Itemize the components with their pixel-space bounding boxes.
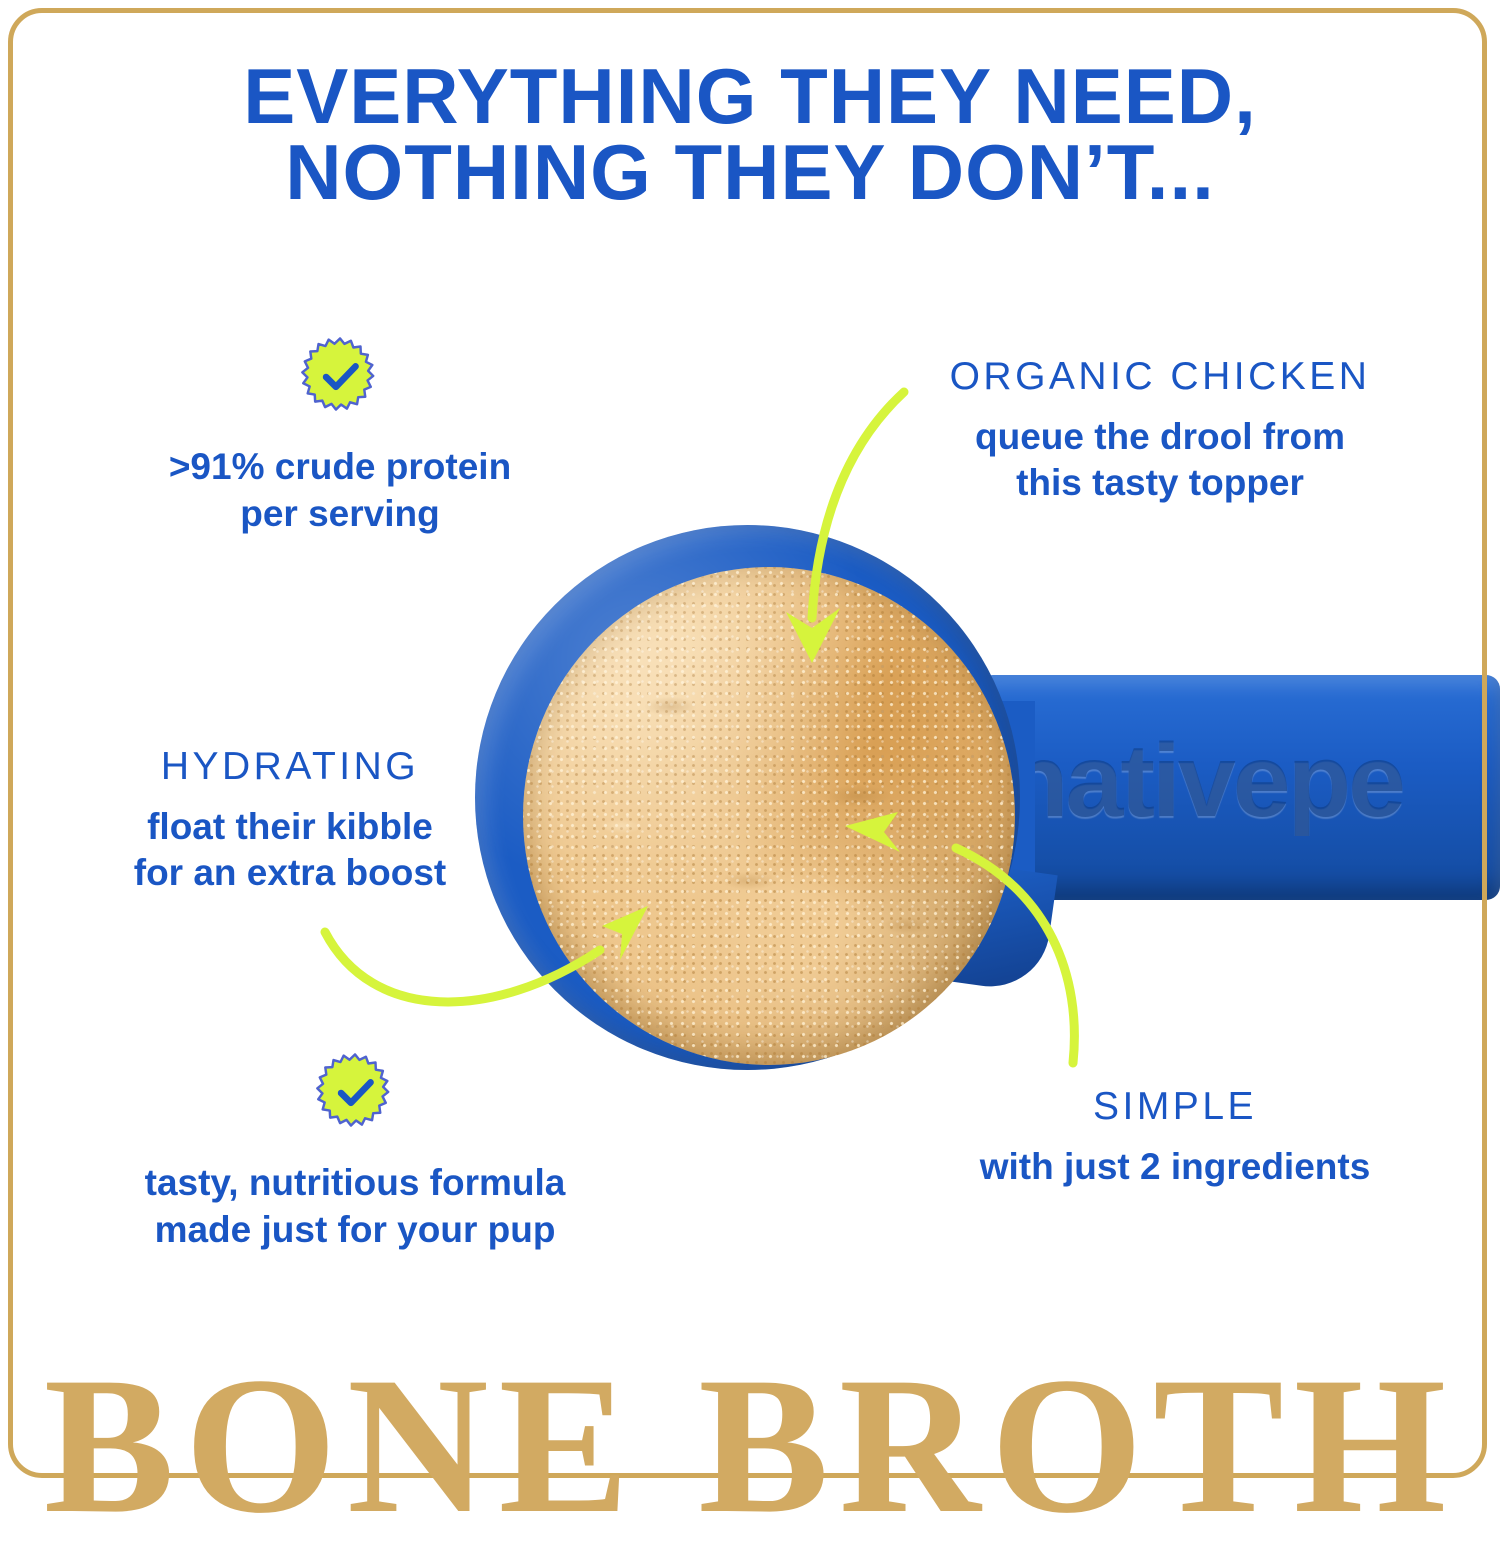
- callout-tasty-line-2: made just for your pup: [95, 1207, 615, 1254]
- check-badge-icon: [314, 1052, 396, 1134]
- callout-protein-body: >91% crude protein per serving: [80, 444, 600, 537]
- callout-simple: SIMPLE with just 2 ingredients: [930, 1085, 1420, 1190]
- callout-hydrating-line-2: for an extra boost: [55, 850, 525, 897]
- callout-protein-line-1: >91% crude protein: [80, 444, 600, 491]
- callout-hydrating-body: float their kibble for an extra boost: [55, 804, 525, 897]
- scoop-handle: nativepe: [975, 675, 1500, 900]
- scoop-bowl: [475, 525, 1020, 1070]
- check-badge-icon: [299, 336, 381, 418]
- callout-simple-body: with just 2 ingredients: [930, 1144, 1420, 1191]
- callout-protein: >91% crude protein per serving: [80, 336, 600, 537]
- callout-organic-chicken: ORGANIC CHICKEN queue the drool from thi…: [900, 355, 1420, 507]
- page-title: EVERYTHING THEY NEED, NOTHING THEY DON’T…: [0, 58, 1500, 211]
- callout-hydrating: HYDRATING float their kibble for an extr…: [55, 745, 525, 897]
- headline-line-2: NOTHING THEY DON’T...: [0, 134, 1500, 210]
- bone-broth-powder: [523, 567, 1015, 1065]
- callout-tasty: tasty, nutritious formula made just for …: [95, 1052, 615, 1253]
- callout-organic-chicken-kicker: ORGANIC CHICKEN: [900, 355, 1420, 400]
- headline-line-1: EVERYTHING THEY NEED,: [0, 58, 1500, 134]
- callout-hydrating-line-1: float their kibble: [55, 804, 525, 851]
- scoop-handle-brand-emboss: nativepe: [1005, 727, 1500, 836]
- callout-organic-chicken-line-2: this tasty topper: [900, 460, 1420, 507]
- callout-protein-line-2: per serving: [80, 491, 600, 538]
- product-wordmark: BONE BROTH: [0, 1362, 1500, 1531]
- callout-tasty-body: tasty, nutritious formula made just for …: [95, 1160, 615, 1253]
- callout-organic-chicken-line-1: queue the drool from: [900, 414, 1420, 461]
- callout-tasty-line-1: tasty, nutritious formula: [95, 1160, 615, 1207]
- callout-simple-kicker: SIMPLE: [930, 1085, 1420, 1130]
- callout-hydrating-kicker: HYDRATING: [55, 745, 525, 790]
- product-photo: nativepe: [455, 505, 1500, 1105]
- callout-organic-chicken-body: queue the drool from this tasty topper: [900, 414, 1420, 507]
- callout-simple-line-1: with just 2 ingredients: [930, 1144, 1420, 1191]
